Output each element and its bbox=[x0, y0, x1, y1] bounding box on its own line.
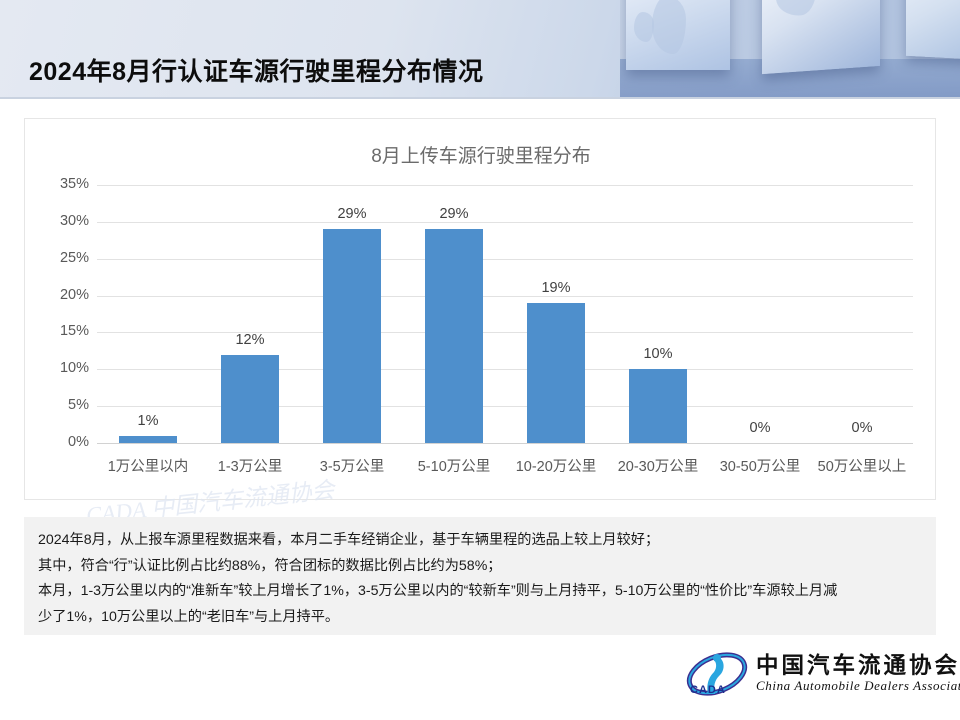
chart-gridline bbox=[97, 443, 913, 444]
world-map-blob bbox=[776, 0, 816, 17]
header-decorative-image bbox=[620, 0, 960, 97]
y-axis-tick-label: 10% bbox=[29, 360, 89, 376]
chart-gridline bbox=[97, 406, 913, 407]
footer-logo: CADA 中国汽车流通协会 China Automobile Dealers A… bbox=[686, 646, 938, 704]
chart-gridline bbox=[97, 259, 913, 260]
note-box: 2024年8月，从上报车源里程数据来看，本月二手车经销企业，基于车辆里程的选品上… bbox=[24, 517, 936, 635]
y-axis-tick-label: 20% bbox=[29, 287, 89, 303]
bar-value-label: 29% bbox=[403, 206, 505, 222]
logo-english-name: China Automobile Dealers Association bbox=[756, 678, 960, 694]
x-axis-tick-label: 3-5万公里 bbox=[301, 455, 403, 476]
bar-value-label: 0% bbox=[811, 420, 913, 436]
chart-plot-area: 0%5%10%15%20%25%30%35%1%1万公里以内12%1-3万公里2… bbox=[97, 185, 913, 443]
x-axis-tick-label: 20-30万公里 bbox=[607, 455, 709, 476]
chart-gridline bbox=[97, 222, 913, 223]
chart-bar[interactable] bbox=[323, 229, 380, 443]
chart-gridline bbox=[97, 369, 913, 370]
chart-gridline bbox=[97, 185, 913, 186]
y-axis-tick-label: 25% bbox=[29, 250, 89, 266]
y-axis-tick-label: 15% bbox=[29, 323, 89, 339]
note-line: 其中，符合“行”认证比例占比约88%，符合团标的数据比例占比约为58%； bbox=[38, 554, 922, 580]
x-axis-tick-label: 1-3万公里 bbox=[199, 455, 301, 476]
y-axis-tick-label: 35% bbox=[29, 176, 89, 192]
header-cube-1 bbox=[626, 0, 730, 70]
header-cube-3 bbox=[906, 0, 960, 60]
chart-bar[interactable] bbox=[629, 369, 686, 443]
x-axis-tick-label: 1万公里以内 bbox=[97, 455, 199, 476]
y-axis-tick-label: 0% bbox=[29, 434, 89, 450]
logo-chinese-name: 中国汽车流通协会 bbox=[756, 648, 960, 680]
note-line: 2024年8月，从上报车源里程数据来看，本月二手车经销企业，基于车辆里程的选品上… bbox=[38, 528, 922, 554]
chart-bar[interactable] bbox=[527, 303, 584, 443]
header-cube-2 bbox=[762, 0, 880, 74]
cada-abbr-text: CADA bbox=[690, 684, 726, 696]
y-axis-tick-label: 5% bbox=[29, 397, 89, 413]
page-title: 2024年8月行认证车源行驶里程分布情况 bbox=[29, 52, 484, 88]
bar-value-label: 1% bbox=[97, 413, 199, 429]
chart-bar[interactable] bbox=[119, 436, 176, 443]
page-header: 2024年8月行认证车源行驶里程分布情况 bbox=[0, 0, 960, 97]
bar-value-label: 12% bbox=[199, 332, 301, 348]
note-line: 少了1%，10万公里以上的“老旧车”与上月持平。 bbox=[38, 605, 922, 631]
chart-title: 8月上传车源行驶里程分布 bbox=[25, 141, 937, 168]
chart-bar[interactable] bbox=[425, 229, 482, 443]
x-axis-tick-label: 50万公里以上 bbox=[811, 455, 913, 476]
x-axis-tick-label: 10-20万公里 bbox=[505, 455, 607, 476]
x-axis-tick-label: 30-50万公里 bbox=[709, 455, 811, 476]
world-map-blob bbox=[652, 0, 686, 54]
x-axis-tick-label: 5-10万公里 bbox=[403, 455, 505, 476]
bar-value-label: 10% bbox=[607, 346, 709, 362]
bar-value-label: 0% bbox=[709, 420, 811, 436]
world-map-blob bbox=[634, 12, 654, 42]
note-line: 本月，1-3万公里以内的“准新车”较上月增长了1%，3-5万公里以内的“较新车”… bbox=[38, 579, 922, 605]
header-divider bbox=[0, 97, 960, 99]
chart-panel: 8月上传车源行驶里程分布 CADA 中国汽车流通协会 0%5%10%15%20%… bbox=[24, 118, 936, 500]
y-axis-tick-label: 30% bbox=[29, 213, 89, 229]
bar-value-label: 19% bbox=[505, 280, 607, 296]
chart-bar[interactable] bbox=[221, 355, 278, 443]
bar-value-label: 29% bbox=[301, 206, 403, 222]
